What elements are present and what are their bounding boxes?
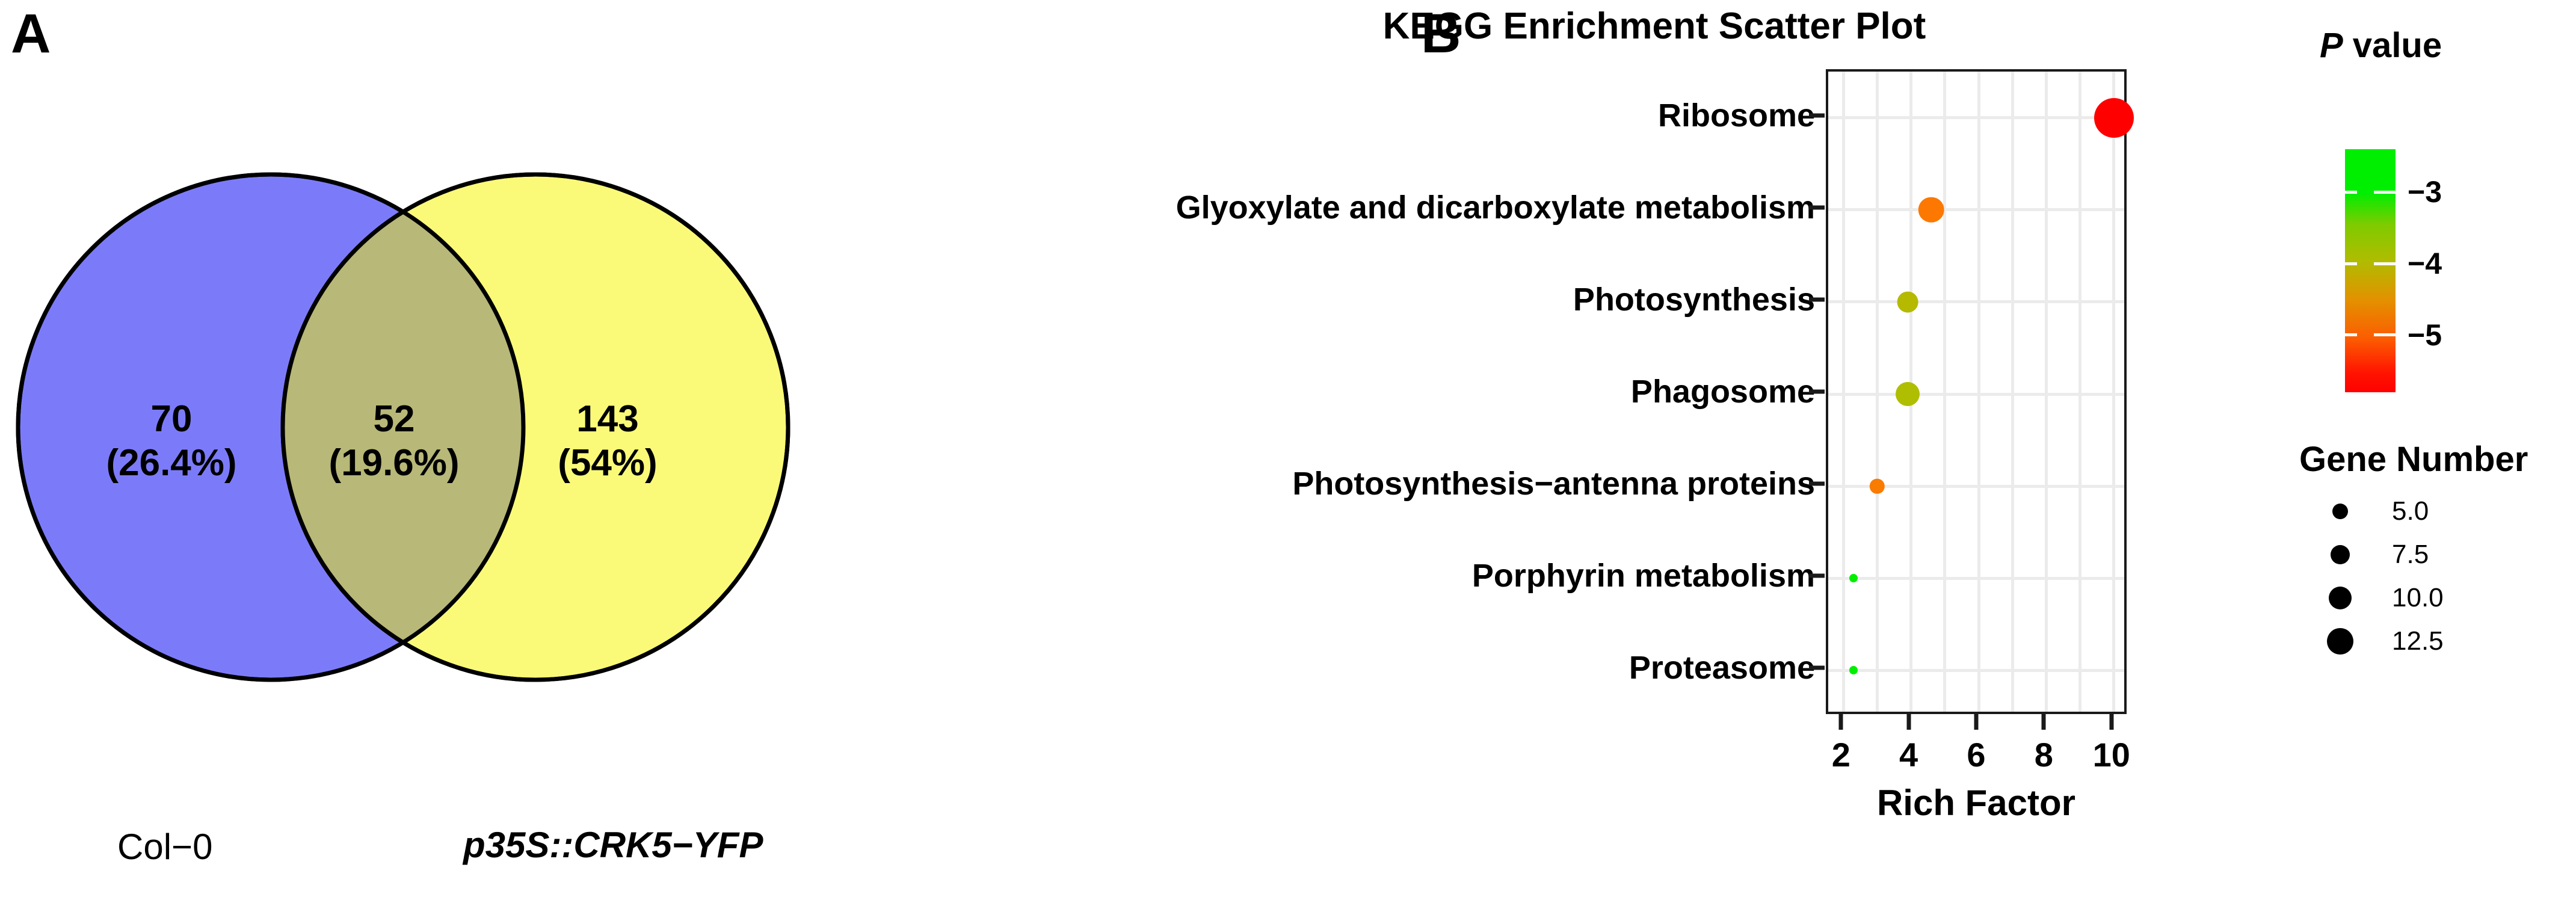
y-axis-tick: [1809, 297, 1825, 301]
gridline-horizontal: [1828, 208, 2124, 211]
gridline-horizontal: [1828, 393, 2124, 396]
colorbar-tick: [2374, 262, 2396, 265]
venn-set-label-right: p35S::CRK5−YFP: [463, 824, 763, 866]
colorbar-tick: [2345, 191, 2357, 194]
plot-panel: [1826, 69, 2127, 714]
pvalue-legend-rest: value: [2343, 26, 2442, 65]
gene-number-legend-label: 12.5: [2392, 626, 2444, 656]
gridline-horizontal: [1828, 116, 2124, 119]
gridline-horizontal: [1828, 300, 2124, 303]
data-point[interactable]: [1918, 197, 1944, 223]
gridline-horizontal: [1828, 577, 2124, 580]
gridline-vertical: [1842, 72, 1845, 712]
gene-number-legend-dot: [2327, 628, 2353, 655]
venn-right-only-count: 143: [508, 397, 707, 441]
x-axis-tick: [1906, 714, 1911, 730]
colorbar-tick-label: −5: [2408, 318, 2442, 353]
gridline-vertical: [2045, 72, 2048, 712]
y-axis-category-label: Proteasome: [1629, 649, 1815, 686]
gridline-vertical: [1943, 72, 1946, 712]
colorbar-tick: [2345, 262, 2357, 265]
data-point[interactable]: [1870, 479, 1884, 493]
data-point[interactable]: [1897, 291, 1918, 312]
x-axis-tick-label: 6: [1967, 735, 1985, 774]
y-axis-category-label: Porphyrin metabolism: [1472, 557, 1815, 594]
gene-number-legend-label: 10.0: [2392, 583, 2444, 613]
venn-diagram: 70 (26.4%) 52 (19.6%) 143 (54%) Col−0 p3…: [0, 0, 938, 906]
gene-number-legend-dot: [2331, 545, 2350, 564]
pvalue-colorbar: [2345, 149, 2396, 392]
colorbar-tick: [2374, 191, 2396, 194]
y-axis-tick: [1809, 482, 1825, 486]
colorbar-tick-label: −3: [2408, 174, 2442, 209]
y-axis-tick: [1809, 205, 1825, 209]
x-axis-title: Rich Factor: [1826, 782, 2127, 824]
pvalue-legend-italic-p: P: [2320, 26, 2343, 65]
venn-intersection-percent: (19.6%): [304, 441, 484, 485]
y-axis-tick: [1809, 113, 1825, 117]
gene-number-legend-title: Gene Number: [2299, 439, 2528, 479]
venn-intersection-label: 52 (19.6%): [304, 397, 484, 485]
gridline-vertical: [2078, 72, 2081, 712]
x-axis-tick-label: 10: [2093, 735, 2130, 774]
plot-inner: [1828, 72, 2124, 712]
venn-left-only-label: 70 (26.4%): [72, 397, 271, 485]
gene-number-legend-dot: [2329, 587, 2352, 609]
gridline-vertical: [2011, 72, 2014, 712]
y-axis-category-label: Photosynthesis−antenna proteins: [1292, 465, 1815, 502]
gene-number-legend-label: 7.5: [2392, 540, 2429, 570]
x-axis-tick: [2109, 714, 2113, 730]
gridline-horizontal: [1828, 669, 2124, 672]
gridline-vertical: [2112, 72, 2115, 712]
venn-left-only-count: 70: [72, 397, 271, 441]
venn-right-only-percent: (54%): [508, 441, 707, 485]
y-axis-category-label: Phagosome: [1631, 373, 1815, 410]
gridline-vertical: [1977, 72, 1980, 712]
gene-number-legend-label: 5.0: [2392, 496, 2429, 526]
x-axis-tick-label: 8: [2035, 735, 2053, 774]
venn-set-label-left: Col−0: [117, 826, 212, 867]
y-axis-tick: [1809, 390, 1825, 394]
y-axis-category-label: Ribosome: [1658, 97, 1815, 134]
x-axis-tick: [1974, 714, 1979, 730]
venn-right-only-label: 143 (54%): [508, 397, 707, 485]
y-axis-category-label: Glyoxylate and dicarboxylate metabolism: [1176, 189, 1815, 226]
kegg-scatter-plot: KEGG Enrichment Scatter Plot RibosomeGly…: [938, 0, 2576, 906]
data-point[interactable]: [2094, 98, 2134, 138]
venn-left-only-percent: (26.4%): [72, 441, 271, 485]
x-axis-tick: [1839, 714, 1843, 730]
y-axis-category-label: Photosynthesis: [1573, 281, 1815, 318]
y-axis-tick: [1809, 666, 1825, 670]
x-axis-tick-label: 4: [1899, 735, 1918, 774]
gene-number-legend-dot: [2332, 504, 2348, 519]
x-axis-tick-label: 2: [1832, 735, 1850, 774]
pvalue-legend-title: P value: [2320, 25, 2442, 66]
x-axis-tick: [2042, 714, 2046, 730]
venn-intersection-count: 52: [304, 397, 484, 441]
data-point[interactable]: [1896, 382, 1920, 406]
chart-title: KEGG Enrichment Scatter Plot: [1263, 5, 2045, 48]
data-point[interactable]: [1849, 574, 1858, 582]
colorbar-tick-label: −4: [2408, 246, 2442, 281]
colorbar-tick: [2374, 333, 2396, 336]
y-axis-tick: [1809, 574, 1825, 578]
colorbar-tick: [2345, 333, 2357, 336]
data-point[interactable]: [1849, 666, 1858, 674]
gridline-vertical: [1876, 72, 1879, 712]
